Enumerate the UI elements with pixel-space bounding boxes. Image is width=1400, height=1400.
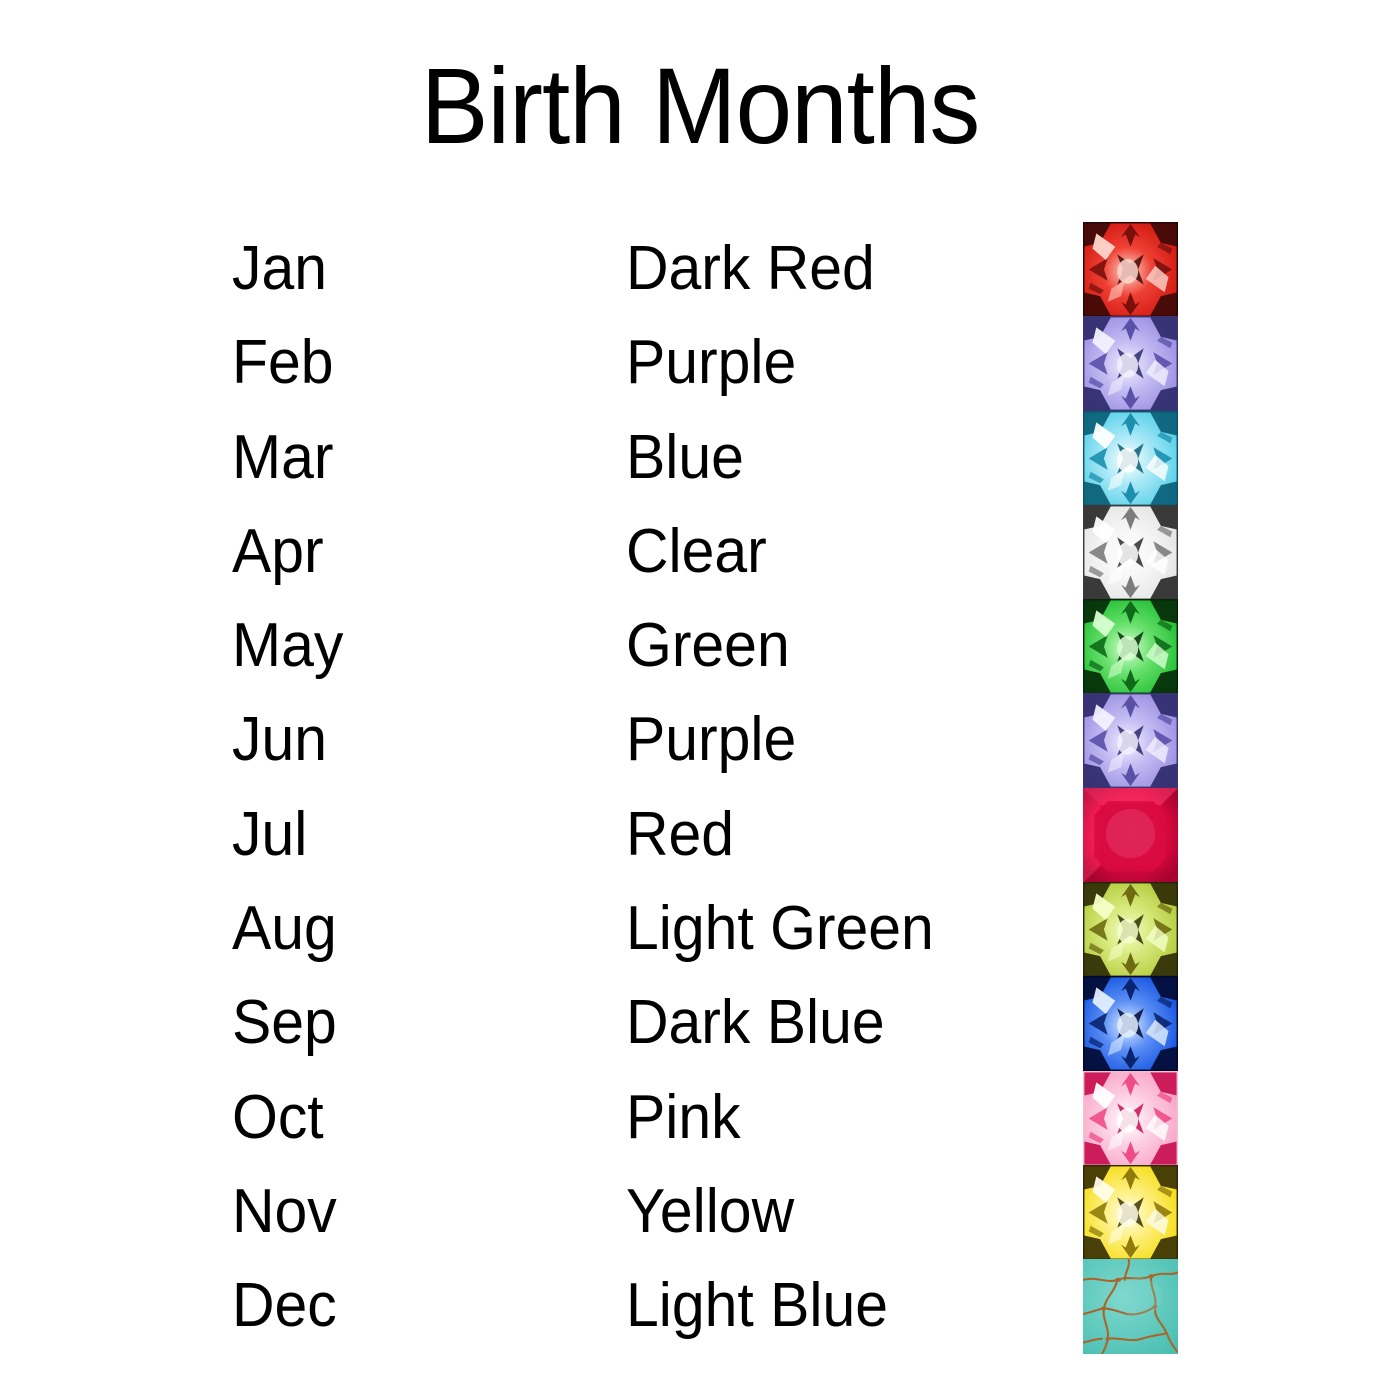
color-label: Light Blue bbox=[626, 1259, 888, 1353]
month-label: Jan bbox=[232, 222, 327, 316]
table-row: OctPink bbox=[0, 1071, 1400, 1165]
color-label: Dark Red bbox=[626, 222, 875, 316]
birth-months-table: JanDark Red FebPurple bbox=[0, 222, 1400, 1354]
light-blue-gem bbox=[1083, 1259, 1178, 1354]
month-label: Feb bbox=[232, 316, 334, 410]
dark-blue-gem bbox=[1083, 976, 1178, 1071]
blue-gem bbox=[1083, 411, 1178, 506]
gem-facets bbox=[1083, 976, 1178, 1071]
color-label: Light Green bbox=[626, 882, 934, 976]
color-label: Pink bbox=[626, 1071, 741, 1165]
month-label: Aug bbox=[232, 882, 337, 976]
color-label: Dark Blue bbox=[626, 976, 885, 1070]
month-label: May bbox=[232, 599, 343, 693]
table-row: JanDark Red bbox=[0, 222, 1400, 316]
gem-facets bbox=[1083, 693, 1178, 788]
month-label: Jun bbox=[232, 693, 327, 787]
table-row: SepDark Blue bbox=[0, 976, 1400, 1070]
yellow-gem bbox=[1083, 1165, 1178, 1260]
month-label: Nov bbox=[232, 1165, 337, 1259]
light-green-gem bbox=[1083, 882, 1178, 977]
color-label: Blue bbox=[626, 411, 744, 505]
table-row: JulRed bbox=[0, 788, 1400, 882]
pink-gem bbox=[1083, 1071, 1178, 1166]
table-row: AugLight Green bbox=[0, 882, 1400, 976]
table-row: JunPurple bbox=[0, 693, 1400, 787]
table-row: DecLight Blue bbox=[0, 1259, 1400, 1353]
gem-facets bbox=[1083, 882, 1178, 977]
gem-facets bbox=[1083, 316, 1178, 411]
gem-facets bbox=[1083, 599, 1178, 694]
month-label: Oct bbox=[232, 1071, 324, 1165]
month-label: Mar bbox=[232, 411, 333, 505]
gem-matrix bbox=[1083, 1259, 1178, 1354]
gem-facets bbox=[1083, 1165, 1178, 1260]
dark-red-gem bbox=[1083, 222, 1178, 317]
table-row: MayGreen bbox=[0, 599, 1400, 693]
gem-facets bbox=[1083, 1071, 1178, 1166]
month-label: Jul bbox=[232, 788, 307, 882]
month-label: Sep bbox=[232, 976, 337, 1070]
color-label: Purple bbox=[626, 316, 796, 410]
color-label: Clear bbox=[626, 505, 767, 599]
page-title: Birth Months bbox=[42, 52, 1358, 160]
gem-facets bbox=[1083, 505, 1178, 600]
color-label: Green bbox=[626, 599, 790, 693]
purple-gem bbox=[1083, 316, 1178, 411]
gem-facets bbox=[1083, 411, 1178, 506]
month-label: Apr bbox=[232, 505, 324, 599]
gem-facets bbox=[1083, 788, 1178, 883]
color-label: Purple bbox=[626, 693, 796, 787]
color-label: Yellow bbox=[626, 1165, 794, 1259]
month-label: Dec bbox=[232, 1259, 337, 1353]
birth-months-page: Birth Months JanDark Red bbox=[0, 0, 1400, 1400]
table-row: MarBlue bbox=[0, 411, 1400, 505]
table-row: NovYellow bbox=[0, 1165, 1400, 1259]
red-gem bbox=[1083, 788, 1178, 883]
table-row: AprClear bbox=[0, 505, 1400, 599]
table-row: FebPurple bbox=[0, 316, 1400, 410]
color-label: Red bbox=[626, 788, 734, 882]
purple-gem bbox=[1083, 693, 1178, 788]
green-gem bbox=[1083, 599, 1178, 694]
clear-gem bbox=[1083, 505, 1178, 600]
gem-facets bbox=[1083, 222, 1178, 317]
